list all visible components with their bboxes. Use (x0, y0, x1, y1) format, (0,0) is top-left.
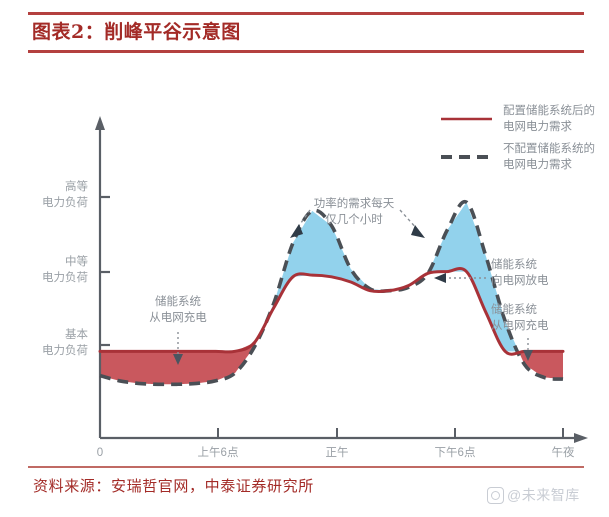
discharge-region-1 (266, 211, 380, 322)
chart-legend: 配置储能系统后的 电网电力需求 不配置储能系统的 电网电力需求 (441, 103, 595, 171)
annotation-charge-left-line2: 从电网充电 (149, 310, 207, 324)
user-badge-icon (487, 487, 504, 504)
watermark: @未来智库 (487, 485, 580, 505)
y-axis-label-medium-line1: 中等 (65, 254, 88, 268)
chart-plot-area: 高等 电力负荷 中等 电力负荷 基本 电力负荷 0 上午6点 正午 下午6点 午… (0, 60, 609, 460)
watermark-text: @未来智库 (507, 485, 580, 505)
x-tick-label-midnight: 午夜 (552, 445, 575, 459)
header-block: 图表2：削峰平谷示意图 (28, 12, 584, 53)
x-tick-label-noon: 正午 (326, 446, 349, 459)
legend-label-solid-line1: 配置储能系统后的 (503, 103, 595, 117)
annotation-charge-right-line2: 从电网充电 (491, 318, 549, 332)
header-rule-bottom (28, 50, 584, 53)
y-axis-label-high-line2: 电力负荷 (42, 195, 88, 209)
annotation-discharge-right-arrow-icon (434, 273, 446, 283)
y-axis-label-base-line2: 电力负荷 (42, 343, 88, 357)
annotation-discharge-right-line1: 储能系统 (491, 257, 537, 271)
legend-label-solid-line2: 电网电力需求 (503, 120, 572, 133)
x-tick-label-6pm: 下午6点 (435, 446, 476, 459)
annotation-charge-left-line1: 储能系统 (155, 294, 201, 308)
annotation-peak-duration-line2: 仅几个小时 (325, 213, 383, 226)
legend-label-dashed-line1: 不配置储能系统的 (503, 141, 595, 155)
annotation-discharge-right-line2: 向电网放电 (491, 273, 549, 287)
peak-shaving-chart: 高等 电力负荷 中等 电力负荷 基本 电力负荷 0 上午6点 正午 下午6点 午… (0, 60, 609, 460)
x-tick-label-0: 0 (97, 447, 103, 459)
y-axis-arrow-icon (95, 116, 105, 130)
y-axis-label-high-line1: 高等 (65, 179, 88, 193)
page-title: 图表2：削峰平谷示意图 (28, 15, 584, 50)
x-axis-arrow-icon (574, 433, 588, 443)
x-tick-label-6am: 上午6点 (198, 446, 239, 459)
y-axis-label-base-line1: 基本 (65, 327, 88, 341)
annotation-charge-right-line1: 储能系统 (491, 302, 537, 316)
annotation-peak-duration-arrow-right-icon (411, 225, 425, 238)
annotation-peak-duration-line1: 功率的需求每天 (314, 196, 395, 210)
y-axis-label-medium-line2: 电力负荷 (42, 270, 88, 284)
legend-label-dashed-line2: 电网电力需求 (503, 158, 572, 171)
